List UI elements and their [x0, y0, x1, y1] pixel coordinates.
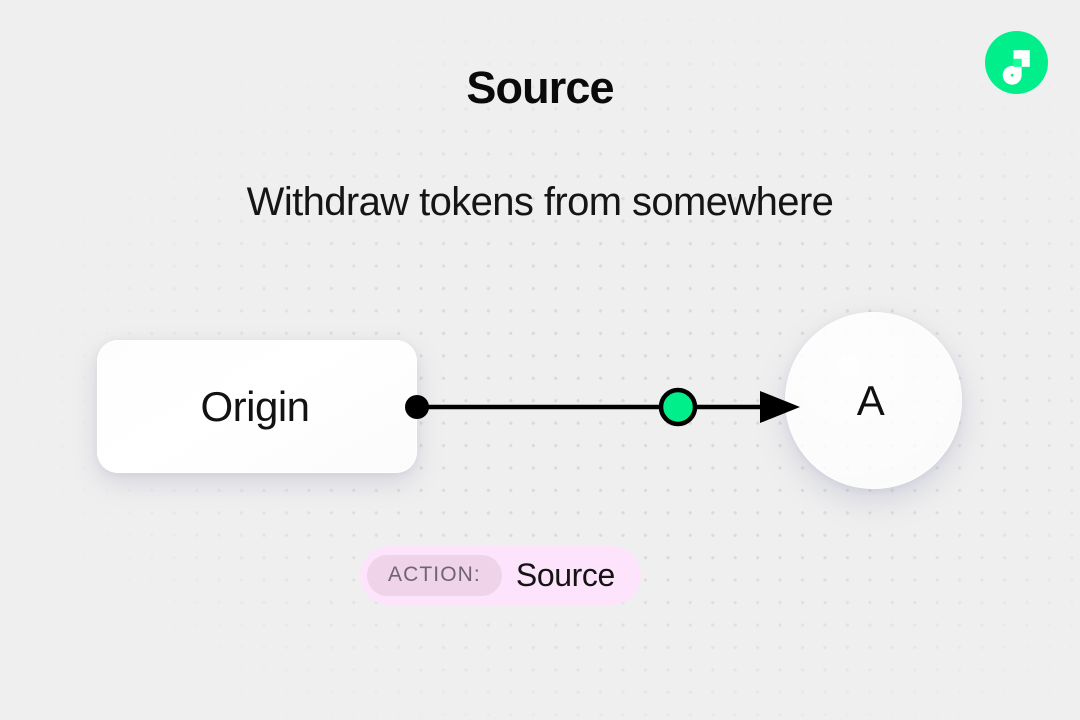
diagram-node-a-label: A — [857, 377, 885, 425]
diagram-node-a[interactable]: A — [785, 312, 962, 489]
diagram-node-origin[interactable]: Origin — [97, 340, 417, 473]
flow-logo-icon — [985, 31, 1048, 94]
page-subtitle: Withdraw tokens from somewhere — [0, 180, 1080, 225]
page-title: Source — [0, 62, 1080, 114]
action-badge[interactable]: ACTION: Source — [360, 546, 641, 605]
diagram-node-origin-label: Origin — [200, 383, 309, 431]
action-badge-tag: ACTION: — [367, 555, 502, 596]
action-badge-value: Source — [516, 557, 615, 594]
flow-logo[interactable] — [985, 31, 1048, 94]
